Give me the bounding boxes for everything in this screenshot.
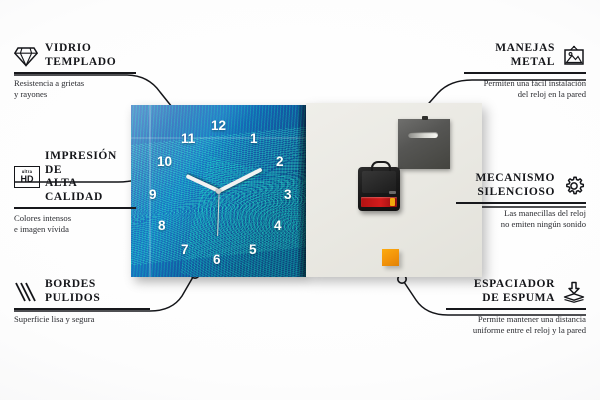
callout-divider (14, 72, 136, 74)
callout-title: MECANISMO SILENCIOSO (456, 172, 555, 199)
callout-bordes-pulidos: BORDES PULIDOS Superficie lisa y segura (14, 278, 150, 325)
clock-numeral-3: 3 (284, 188, 292, 202)
battery-label (361, 197, 397, 207)
callout-desc-line2: y rayones (14, 89, 47, 99)
callout-desc-line1: Colores intensos (14, 213, 71, 223)
callout-divider (464, 72, 586, 74)
hanger-slot (408, 132, 438, 138)
clock-front-image: 12 1 2 3 4 5 6 7 8 9 10 11 (131, 105, 306, 277)
callout-desc-line1: Permite mantener una distancia (478, 314, 586, 324)
diamond-icon (14, 45, 38, 67)
clock-numeral-10: 10 (157, 155, 172, 169)
ultra-hd-large-label: HD (21, 175, 34, 184)
callout-divider (14, 308, 150, 310)
clock-numeral-7: 7 (181, 243, 189, 257)
clock-numeral-12: 12 (211, 119, 226, 133)
polished-edges-icon (14, 281, 38, 303)
callout-desc-line1: Permiten una fácil instalación (484, 78, 586, 88)
clock-numeral-2: 2 (276, 155, 284, 169)
callout-title: ESPACIADOR DE ESPUMA (446, 278, 555, 305)
battery-tip (390, 198, 395, 206)
hanger-plate (398, 119, 450, 169)
mechanism-marking (389, 191, 396, 194)
clock-numeral-6: 6 (213, 253, 221, 267)
callout-title: MANEJAS METAL (464, 42, 555, 69)
clock-numeral-4: 4 (274, 219, 282, 233)
callout-head: MANEJAS METAL (464, 42, 586, 69)
callout-manejas-metal: MANEJAS METAL Permiten una fácil instala… (464, 42, 586, 100)
callout-title-line1: ESPACIADOR (474, 278, 555, 290)
clock-face: 12 1 2 3 4 5 6 7 8 9 10 11 (131, 105, 306, 277)
callout-title-line1: MECANISMO (475, 172, 555, 184)
callout-impresion-alta-calidad: ultra HD IMPRESIÓN DE ALTA CALIDAD Color… (14, 150, 136, 235)
callout-title-line1: MANEJAS (495, 42, 555, 54)
clock-numeral-9: 9 (149, 188, 157, 202)
callout-description: Permite mantener una distancia uniforme … (446, 314, 586, 336)
foam-spacer (382, 249, 399, 266)
callout-divider (456, 202, 586, 204)
callout-desc-line2: no emiten ningún sonido (501, 219, 586, 229)
callout-title-line2: TEMPLADO (45, 56, 116, 68)
callout-description: Resistencia a grietas y rayones (14, 78, 136, 100)
callout-espaciador-espuma: ESPACIADOR DE ESPUMA Permite mantener un… (446, 278, 586, 336)
callout-title-line1: VIDRIO (45, 42, 91, 54)
callout-desc-line1: Las manecillas del reloj (504, 208, 586, 218)
callout-desc-line2: uniforme entre el reloj y la pared (473, 325, 586, 335)
callout-desc-line2: del reloj en la pared (518, 89, 586, 99)
callout-head: ESPACIADOR DE ESPUMA (446, 278, 586, 305)
callout-divider (14, 207, 136, 209)
clock-numeral-8: 8 (158, 219, 166, 233)
clock-center-cap (216, 189, 221, 194)
clock-numeral-11: 11 (181, 132, 195, 146)
ultra-hd-box: ultra HD (14, 166, 40, 188)
callout-description: Colores intensos e imagen vívida (14, 213, 136, 235)
hanger-nail (422, 116, 428, 120)
callout-mecanismo-silencioso: MECANISMO SILENCIOSO Las manecillas del … (456, 172, 586, 230)
callout-vidrio-templado: VIDRIO TEMPLADO Resistencia a grietas y … (14, 42, 136, 100)
clock-numeral-5: 5 (249, 243, 257, 257)
callout-title-line2: DE ESPUMA (482, 292, 555, 304)
callout-title-line2: METAL (511, 56, 555, 68)
callout-head: BORDES PULIDOS (14, 278, 150, 305)
infographic-stage: 12 1 2 3 4 5 6 7 8 9 10 11 (0, 0, 600, 400)
callout-head: VIDRIO TEMPLADO (14, 42, 136, 69)
clock-mechanism (358, 167, 400, 211)
callout-description: Las manecillas del reloj no emiten ningú… (456, 208, 586, 230)
callout-title-line2: SILENCIOSO (477, 186, 555, 198)
callout-title-line2: ALTA CALIDAD (45, 177, 103, 203)
callout-title: IMPRESIÓN DE ALTA CALIDAD (45, 150, 136, 204)
clock-edge-shadow (298, 105, 306, 277)
framed-picture-hanging-icon (562, 45, 586, 67)
callout-divider (446, 308, 586, 310)
callout-head: MECANISMO SILENCIOSO (456, 172, 586, 199)
callout-title-line2: PULIDOS (45, 292, 100, 304)
callout-desc-line1: Superficie lisa y segura (14, 314, 94, 324)
ultra-hd-icon: ultra HD (14, 166, 38, 188)
callout-title: VIDRIO TEMPLADO (45, 42, 116, 69)
gear-icon (562, 175, 586, 197)
arrow-down-layers-icon (562, 281, 586, 303)
clock-numeral-1: 1 (250, 132, 258, 146)
callout-title-line1: IMPRESIÓN DE (45, 150, 117, 176)
callout-head: ultra HD IMPRESIÓN DE ALTA CALIDAD (14, 150, 136, 204)
callout-title-line1: BORDES (45, 278, 96, 290)
callout-title: BORDES PULIDOS (45, 278, 100, 305)
mechanism-body (362, 171, 396, 193)
callout-description: Permiten una fácil instalación del reloj… (464, 78, 586, 100)
callout-desc-line2: e imagen vívida (14, 224, 69, 234)
callout-desc-line1: Resistencia a grietas (14, 78, 84, 88)
callout-description: Superficie lisa y segura (14, 314, 150, 325)
